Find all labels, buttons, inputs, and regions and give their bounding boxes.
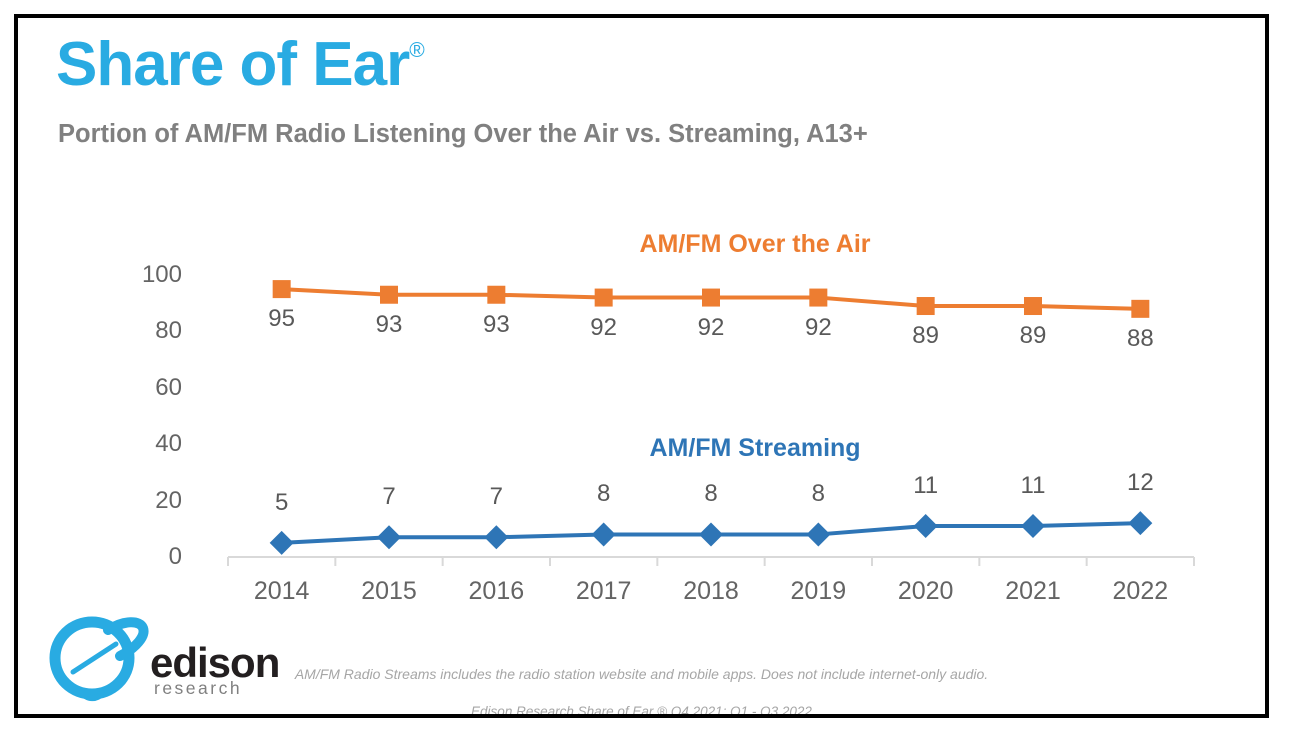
x-axis-tick-label: 2020 [866, 577, 986, 606]
chart-source: Edison Research Share of Ear ® Q4 2021; … [18, 704, 1265, 718]
y-axis-tick-label: 0 [122, 543, 182, 571]
data-point-label: 11 [881, 472, 971, 500]
x-axis-tick-label: 2021 [973, 577, 1093, 606]
y-axis-tick-label: 40 [122, 430, 182, 458]
x-axis-tick-label: 2015 [329, 577, 449, 606]
series-marker [1024, 297, 1042, 315]
series-marker [1128, 511, 1152, 535]
series-annotation-label: AM/FM Over the Air [639, 230, 870, 259]
x-axis-tick-label: 2018 [651, 577, 771, 606]
data-point-label: 8 [773, 480, 863, 508]
y-axis-tick-label: 60 [122, 374, 182, 402]
series-marker [484, 525, 508, 549]
series-marker [702, 289, 720, 307]
edison-research-logo: edison research [46, 614, 276, 702]
data-point-label: 95 [237, 305, 327, 333]
data-point-label: 93 [344, 311, 434, 339]
series-marker [1131, 300, 1149, 318]
chart-footnote: AM/FM Radio Streams includes the radio s… [18, 666, 1265, 682]
series-marker [806, 522, 830, 546]
series-annotation-label: AM/FM Streaming [649, 434, 860, 463]
slide-canvas: Share of Ear® Portion of AM/FM Radio Lis… [14, 14, 1269, 718]
series-marker [270, 531, 294, 555]
x-axis-tick-label: 2017 [544, 577, 664, 606]
series-marker [273, 280, 291, 298]
series-marker [380, 286, 398, 304]
series-marker [917, 297, 935, 315]
x-axis-tick-label: 2014 [222, 577, 342, 606]
series-marker [377, 525, 401, 549]
chart-plot-area: 0204060801002014201520162017201820192020… [18, 18, 1269, 718]
series-marker [592, 522, 616, 546]
data-point-label: 8 [559, 480, 649, 508]
series-marker [914, 514, 938, 538]
series-marker [699, 522, 723, 546]
data-point-label: 92 [559, 314, 649, 342]
data-point-label: 92 [666, 314, 756, 342]
data-point-label: 92 [773, 314, 863, 342]
series-marker [595, 289, 613, 307]
series-marker [1021, 514, 1045, 538]
data-point-label: 8 [666, 480, 756, 508]
data-point-label: 7 [344, 483, 434, 511]
x-axis-tick-label: 2019 [758, 577, 878, 606]
data-point-label: 7 [451, 483, 541, 511]
data-point-label: 11 [988, 472, 1078, 500]
y-axis-tick-label: 100 [122, 261, 182, 289]
data-point-label: 88 [1095, 325, 1185, 353]
logo-subword: research [154, 680, 242, 698]
series-marker [809, 289, 827, 307]
y-axis-tick-label: 20 [122, 487, 182, 515]
series-marker [487, 286, 505, 304]
data-point-label: 5 [237, 489, 327, 517]
data-point-label: 89 [988, 322, 1078, 350]
x-axis-tick-label: 2022 [1080, 577, 1200, 606]
chart-svg [18, 18, 1269, 718]
edison-planet-logo-icon [46, 614, 151, 702]
data-point-label: 12 [1095, 469, 1185, 497]
data-point-label: 89 [881, 322, 971, 350]
data-point-label: 93 [451, 311, 541, 339]
x-axis-tick-label: 2016 [436, 577, 556, 606]
y-axis-tick-label: 80 [122, 317, 182, 345]
